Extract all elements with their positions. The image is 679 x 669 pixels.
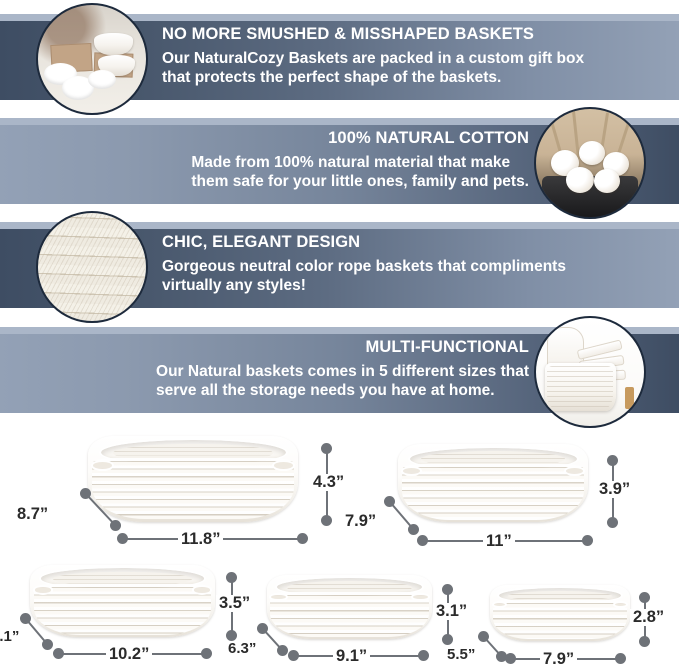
banner-text-block: MULTI-FUNCTIONAL Our Natural baskets com… (14, 327, 529, 413)
basket-size-1-group: 11.8” 8.7” 4.3” (0, 428, 360, 553)
depth-dimension-label: 7.9” (342, 513, 379, 530)
height-dim-dot-top (607, 455, 618, 466)
basket-handle-left (33, 585, 53, 594)
height-dim-dot-bottom (607, 517, 618, 528)
height-dimension-label: 4.3” (310, 474, 347, 491)
basket-size-4-group: 9.1” 6.3” 3.1” (235, 553, 460, 669)
basket-size-2-group: 11” 7.9” 3.9” (350, 428, 679, 553)
length-dim-dot-right (615, 653, 626, 664)
banner-body: Made from 100% natural material that mak… (191, 154, 529, 192)
depth-dimension-label: 7.1” (0, 629, 22, 644)
height-dim-dot-top (639, 592, 650, 603)
height-dim-dot-bottom (321, 515, 332, 526)
length-dim-dot-right (297, 533, 308, 544)
rope-texture-photo (36, 211, 148, 323)
outer-basket-shape (545, 363, 616, 411)
size-dimension-diagrams: 11.8” 8.7” 4.3” (0, 428, 679, 669)
depth-dim-dot-top (384, 496, 395, 507)
basket-handle-left (269, 593, 287, 601)
banner-title: NO MORE SMUSHED & MISSHAPED BASKETS (162, 26, 534, 43)
depth-dim-dot-top (478, 631, 489, 642)
basket-handle-right (564, 466, 585, 476)
height-dim-dot-bottom (639, 636, 650, 647)
basket-handle-left (401, 466, 422, 476)
length-dimension-label: 7.9” (540, 651, 577, 668)
banner-body: Our NaturalCozy Baskets are packed in a … (162, 50, 584, 88)
length-dimension-label: 11” (483, 533, 515, 550)
basket-size-5-group: 7.9” 5.5” 2.8” (448, 553, 679, 669)
banner-text-block: NO MORE SMUSHED & MISSHAPED BASKETS Our … (162, 14, 665, 100)
banner-text-block: 100% NATURAL COTTON Made from 100% natur… (14, 118, 529, 204)
nested-baskets-photo (534, 316, 646, 428)
length-dimension-label: 11.8” (178, 531, 223, 548)
banner-title: 100% NATURAL COTTON (14, 130, 529, 147)
length-dimension-label: 9.1” (333, 648, 370, 665)
height-dim-dot-top (321, 443, 332, 454)
basket-handle-right (192, 585, 212, 594)
depth-dim-dot-bottom (42, 639, 53, 650)
depth-dimension-label: 8.7” (14, 506, 51, 523)
product-infographic: NO MORE SMUSHED & MISSHAPED BASKETS Our … (0, 0, 679, 669)
banner-body: Our Natural baskets comes in 5 different… (156, 363, 529, 401)
depth-dim-dot-bottom (277, 645, 288, 656)
depth-dim-dot-bottom (408, 524, 419, 535)
depth-dim-dot-bottom (110, 520, 121, 531)
basket-rim-shape (88, 70, 116, 89)
depth-dim-dot-top (80, 488, 91, 499)
height-dimension-label: 2.8” (630, 609, 667, 626)
depth-dim-dot-top (20, 613, 31, 624)
basket-handle-right (411, 593, 429, 601)
banner-body: Gorgeous neutral color rope baskets that… (162, 258, 566, 296)
cotton-boll-shape (579, 141, 605, 165)
basket-photo-shape (94, 33, 133, 55)
length-dim-dot-right (582, 535, 593, 546)
gift-box-baskets-photo (36, 3, 148, 115)
depth-dim-dot-top (257, 623, 268, 634)
basket-handle-right (613, 601, 628, 608)
banner-text-block: CHIC, ELEGANT DESIGN Gorgeous neutral co… (162, 222, 665, 308)
brand-tag-shape (625, 387, 635, 409)
depth-dimension-label: 5.5” (444, 647, 478, 662)
basket-size-3-group: 10.2” 7.1” 3.5” (0, 553, 245, 669)
banner-title: MULTI-FUNCTIONAL (14, 339, 529, 356)
length-dimension-label: 10.2” (106, 646, 152, 663)
height-dimension-label: 3.9” (596, 481, 633, 498)
depth-dimension-label: 6.3” (225, 641, 259, 656)
length-dim-dot-right (201, 648, 212, 659)
depth-dim-dot-bottom (496, 651, 507, 662)
cotton-bolls-photo (534, 107, 646, 219)
length-dim-dot-right (418, 650, 429, 661)
banner-title: CHIC, ELEGANT DESIGN (162, 234, 360, 251)
